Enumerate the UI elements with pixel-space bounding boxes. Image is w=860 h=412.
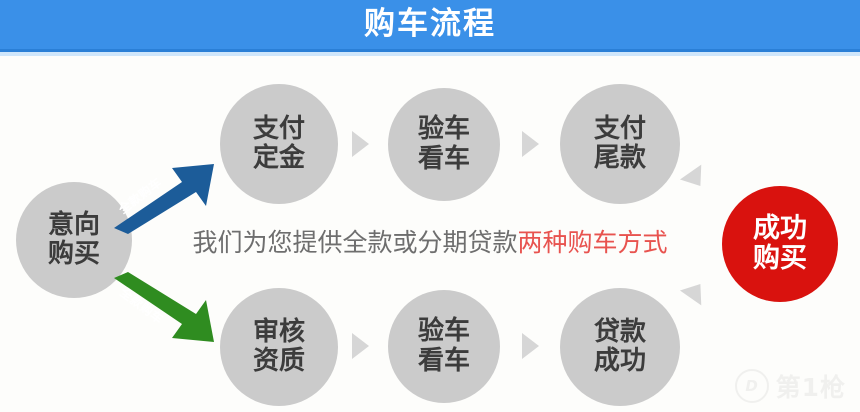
watermark-logo-icon: D	[735, 369, 769, 403]
arrow-icon-merge-top	[680, 165, 711, 194]
node-loan-approved[interactable]: 贷款 成功	[560, 288, 680, 406]
node-pay-balance-line1: 支付	[594, 115, 646, 144]
caption: 我们为您提供全款或分期贷款两种购车方式	[0, 223, 860, 259]
node-inspect-car-bottom[interactable]: 验车 看车	[388, 290, 500, 403]
caption-highlight: 两种购车方式	[518, 228, 668, 257]
branch-arrow-installment: 全款购车	[110, 272, 222, 344]
node-review-qualification-line2: 资质	[253, 347, 305, 376]
arrow-icon-bottom-2	[522, 333, 539, 359]
watermark-text: 第1枪	[776, 368, 846, 404]
arrow-icon-top-1	[352, 131, 369, 157]
node-inspect-car-bottom-line1: 验车	[418, 317, 470, 346]
node-inspect-car-top[interactable]: 验车 看车	[388, 88, 500, 201]
node-review-qualification-line1: 审核	[253, 318, 305, 347]
node-inspect-car-top-line1: 验车	[418, 115, 470, 144]
node-loan-approved-line1: 贷款	[594, 318, 646, 347]
node-pay-deposit[interactable]: 支付 定金	[220, 84, 338, 204]
arrow-icon-bottom-1	[352, 333, 369, 359]
node-pay-deposit-line2: 定金	[253, 144, 305, 173]
node-review-qualification[interactable]: 审核 资质	[220, 288, 338, 406]
flowchart-canvas: 购车流程 意向 购买 全款购车 全款购车 支付 定金 验车 看车 支付 尾款 审…	[0, 0, 860, 412]
node-pay-deposit-line1: 支付	[253, 115, 305, 144]
node-pay-balance-line2: 尾款	[594, 144, 646, 173]
caption-plain: 我们为您提供全款或分期贷款	[192, 228, 517, 257]
node-loan-approved-line2: 成功	[594, 347, 646, 376]
arrow-icon-top-2	[522, 131, 539, 157]
node-inspect-car-top-line2: 看车	[418, 145, 470, 174]
node-inspect-car-bottom-line2: 看车	[418, 347, 470, 376]
page-title: 购车流程	[0, 0, 860, 49]
arrow-icon-merge-bottom	[680, 277, 711, 306]
node-pay-balance[interactable]: 支付 尾款	[560, 84, 680, 204]
watermark: D 第1枪	[735, 368, 846, 404]
header-divider-light	[0, 52, 860, 56]
